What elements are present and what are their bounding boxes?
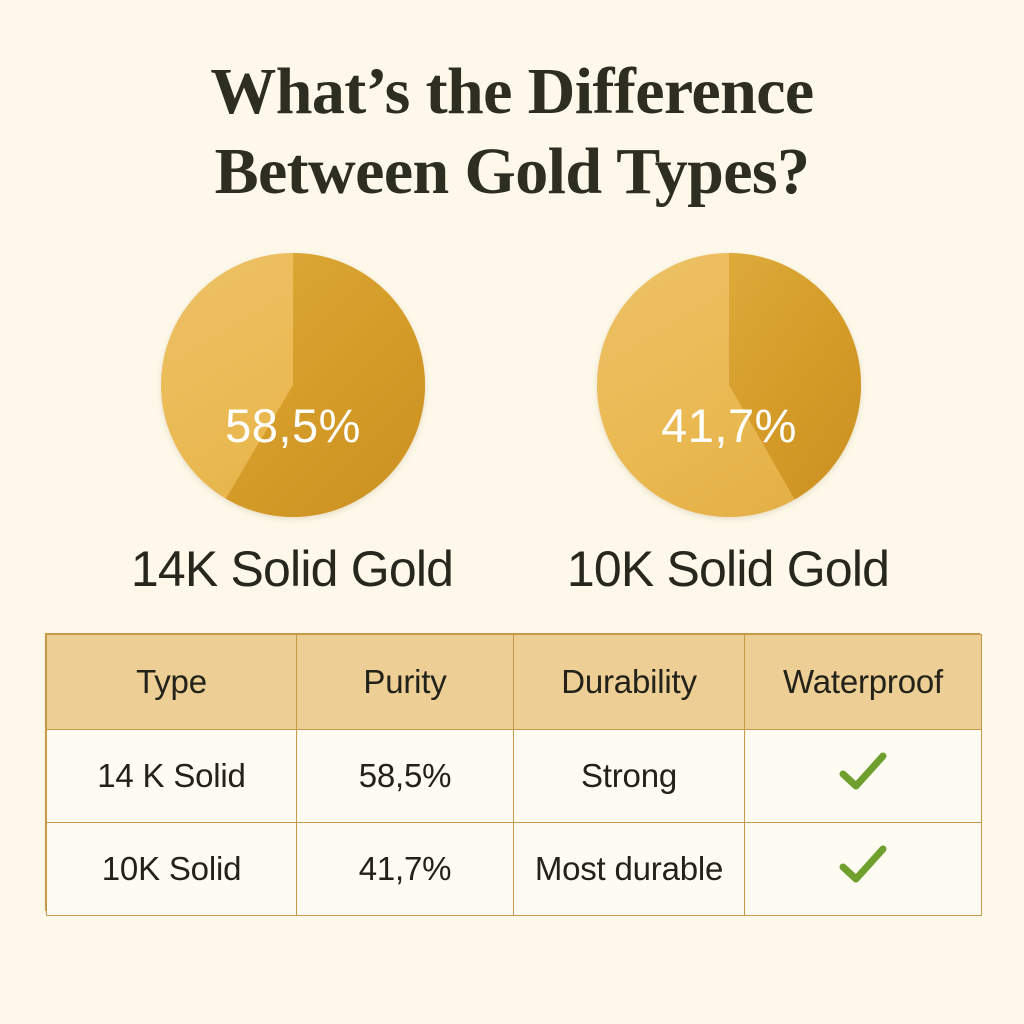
cell-purity-14k: 58,5% [297, 730, 514, 823]
cell-waterproof-14k [745, 730, 982, 823]
pie-chart-10k: 41,7% [596, 252, 862, 518]
pie-chart-10k-value: 41,7% [596, 398, 862, 453]
gold-types-infographic: What’s the Difference Between Gold Types… [0, 0, 1024, 1024]
check-icon [839, 752, 887, 792]
pie-chart-10k-graphic [596, 252, 862, 518]
cell-type-10k: 10K Solid [47, 823, 297, 916]
pie-chart-14k-caption: 14K Solid Gold [62, 540, 522, 598]
cell-type-14k: 14 K Solid [47, 730, 297, 823]
pie-chart-14k: 58,5% [160, 252, 426, 518]
pie-chart-14k-graphic [160, 252, 426, 518]
cell-waterproof-10k [745, 823, 982, 916]
table-header-type: Type [47, 635, 297, 730]
table-header-row: Type Purity Durability Waterproof [47, 635, 982, 730]
table-row: 10K Solid 41,7% Most durable [47, 823, 982, 916]
pie-chart-10k-caption: 10K Solid Gold [498, 540, 958, 598]
cell-durability-10k: Most durable [514, 823, 745, 916]
table-header-waterproof: Waterproof [745, 635, 982, 730]
pie-chart-14k-value: 58,5% [160, 398, 426, 453]
page-title-line-1: What’s the Difference [0, 52, 1024, 132]
page-title: What’s the Difference Between Gold Types… [0, 52, 1024, 212]
cell-purity-10k: 41,7% [297, 823, 514, 916]
table-header-durability: Durability [514, 635, 745, 730]
table-row: 14 K Solid 58,5% Strong [47, 730, 982, 823]
cell-durability-14k: Strong [514, 730, 745, 823]
page-title-line-2: Between Gold Types? [0, 132, 1024, 212]
check-icon [839, 845, 887, 885]
table-header-purity: Purity [297, 635, 514, 730]
comparison-table: Type Purity Durability Waterproof 14 K S… [45, 633, 980, 911]
